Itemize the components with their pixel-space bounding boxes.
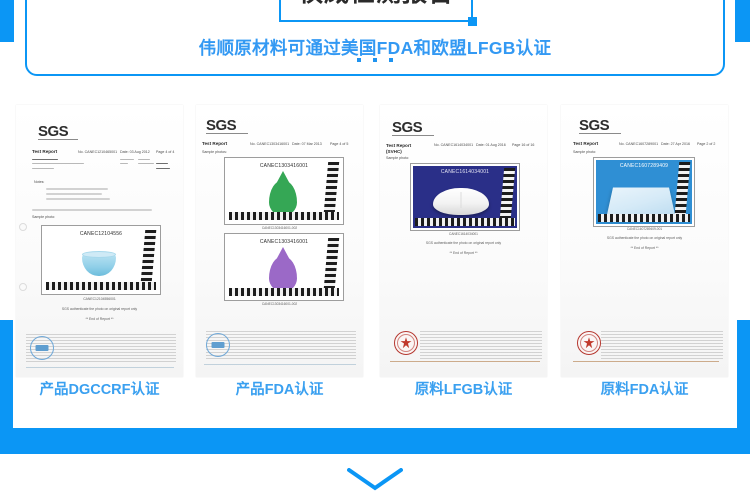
sgs-logo: SGS	[579, 117, 609, 134]
photo-caption: CANEC1607289409-001	[561, 227, 728, 231]
report-page: Page 16 of 16	[512, 143, 534, 147]
sample-code: CANEC1303416001	[227, 163, 341, 169]
report-date: Date: 01 Aug 2016	[476, 143, 506, 147]
sample-photo-label: Sample photo:	[573, 150, 596, 154]
report-number: No. CANEC1607289001	[619, 142, 658, 146]
authenticate-note: SGS authenticate the photo on original r…	[561, 236, 728, 240]
sample-photo-label: Sample photo:	[386, 156, 409, 160]
sample-photo: CANEC1614034001	[410, 163, 520, 231]
report-title: Test Report	[386, 143, 411, 148]
header-section: 权威检测报告 伟顺原材料可通过美国FDA和欧盟LFGB认证	[0, 0, 750, 90]
product-image-green-droplet	[269, 180, 297, 216]
photo-caption: CANEC1303416001-002	[196, 302, 363, 306]
dot	[389, 58, 393, 62]
report-page: Page 2 of 2	[697, 142, 715, 146]
certificate-card[interactable]: SGS Test Report (SVHC) No. CANEC16140340…	[380, 105, 547, 377]
report-title: Test Report	[202, 141, 227, 146]
report-page: Page 4 of 4	[156, 150, 174, 154]
report-number: No. CANEC1303416001	[250, 142, 289, 146]
certificate-card[interactable]: SGS Test Report No. CANEC1607289001 Date…	[561, 105, 728, 377]
footer-accent-band	[0, 428, 750, 454]
sample-photo-label: Sample photo:	[32, 215, 55, 219]
report-date: Date: 27 Apr 2016	[661, 142, 690, 146]
punch-hole-icon	[19, 223, 27, 231]
sgs-seal-icon	[206, 333, 230, 357]
section-title-box: 权威检测报告	[279, 0, 473, 22]
page-title: 权威检测报告	[298, 0, 454, 6]
official-seal-icon	[394, 331, 418, 355]
page-root: 权威检测报告 伟顺原材料可通过美国FDA和欧盟LFGB认证 SGS Test R…	[0, 0, 750, 479]
sample-photo: CANEC1607289409	[593, 157, 695, 227]
title-corner-marker	[468, 17, 477, 26]
dot	[357, 58, 361, 62]
photo-caption: CANEC12104556001	[16, 297, 183, 301]
end-of-report-note: ** End of Report **	[561, 246, 728, 250]
sample-photo: CANEC1303416001	[224, 233, 344, 301]
product-image-bowl	[82, 254, 116, 276]
report-date: Date: 07 Mar 2013	[292, 142, 322, 146]
photo-caption: CANEC1614034001	[380, 232, 547, 236]
dot	[373, 58, 377, 62]
report-subtitle: (SVHC)	[386, 149, 402, 154]
certificate-caption: 原料FDA认证	[561, 378, 728, 399]
sgs-logo-underline	[38, 139, 78, 140]
report-page: Page 4 of 5	[330, 142, 348, 146]
end-of-report-note: ** End of Report **	[380, 251, 547, 255]
sample-code: CANEC1607289409	[596, 163, 692, 169]
certificate-caption: 原料LFGB认证	[380, 378, 547, 399]
sample-photo-label: Sample photos:	[202, 150, 227, 154]
certificate-caption: 产品DGCCRF认证	[16, 378, 183, 399]
product-image-mouse-pad	[433, 188, 489, 215]
end-of-report-note: ** End of Report **	[16, 317, 183, 321]
official-seal-icon	[577, 331, 601, 355]
report-date: Date: 03 Aug 2012	[120, 150, 150, 154]
certificate-card[interactable]: SGS Test Report No. CANEC1303416001 Date…	[196, 105, 363, 377]
certificate-gallery: SGS Test Report No. CANEC1210465001 Date…	[0, 105, 750, 405]
punch-hole-icon	[19, 283, 27, 291]
sample-code: CANEC1614034001	[413, 169, 517, 175]
authenticate-note: SGS authenticate the photo on original r…	[16, 307, 183, 311]
report-title: Test Report	[573, 141, 598, 146]
sgs-logo: SGS	[392, 119, 422, 136]
sample-photo: CANEC12104556	[41, 225, 161, 295]
sgs-logo: SGS	[38, 123, 68, 140]
sgs-seal-icon	[30, 336, 54, 360]
decorative-dots	[0, 58, 750, 62]
report-number: No. CANEC1210465001	[78, 150, 117, 154]
photo-caption: CANEC1303416001-002	[196, 226, 363, 230]
product-image-purple-droplet	[269, 256, 297, 292]
certificate-card[interactable]: SGS Test Report No. CANEC1210465001 Date…	[16, 105, 183, 377]
sample-code: CANEC12104556	[44, 231, 158, 237]
sample-code: CANEC1303416001	[227, 239, 341, 245]
chevron-down-icon[interactable]	[347, 468, 403, 494]
authenticate-note: SGS authenticate the photo on original r…	[380, 241, 547, 245]
header-subtitle: 伟顺原材料可通过美国FDA和欧盟LFGB认证	[0, 35, 750, 60]
sample-photo: CANEC1303416001	[224, 157, 344, 225]
report-number: No. CANEC1614034001	[434, 143, 473, 147]
report-title: Test Report	[32, 149, 57, 154]
certificate-caption: 产品FDA认证	[196, 378, 363, 399]
sgs-logo: SGS	[206, 117, 236, 134]
